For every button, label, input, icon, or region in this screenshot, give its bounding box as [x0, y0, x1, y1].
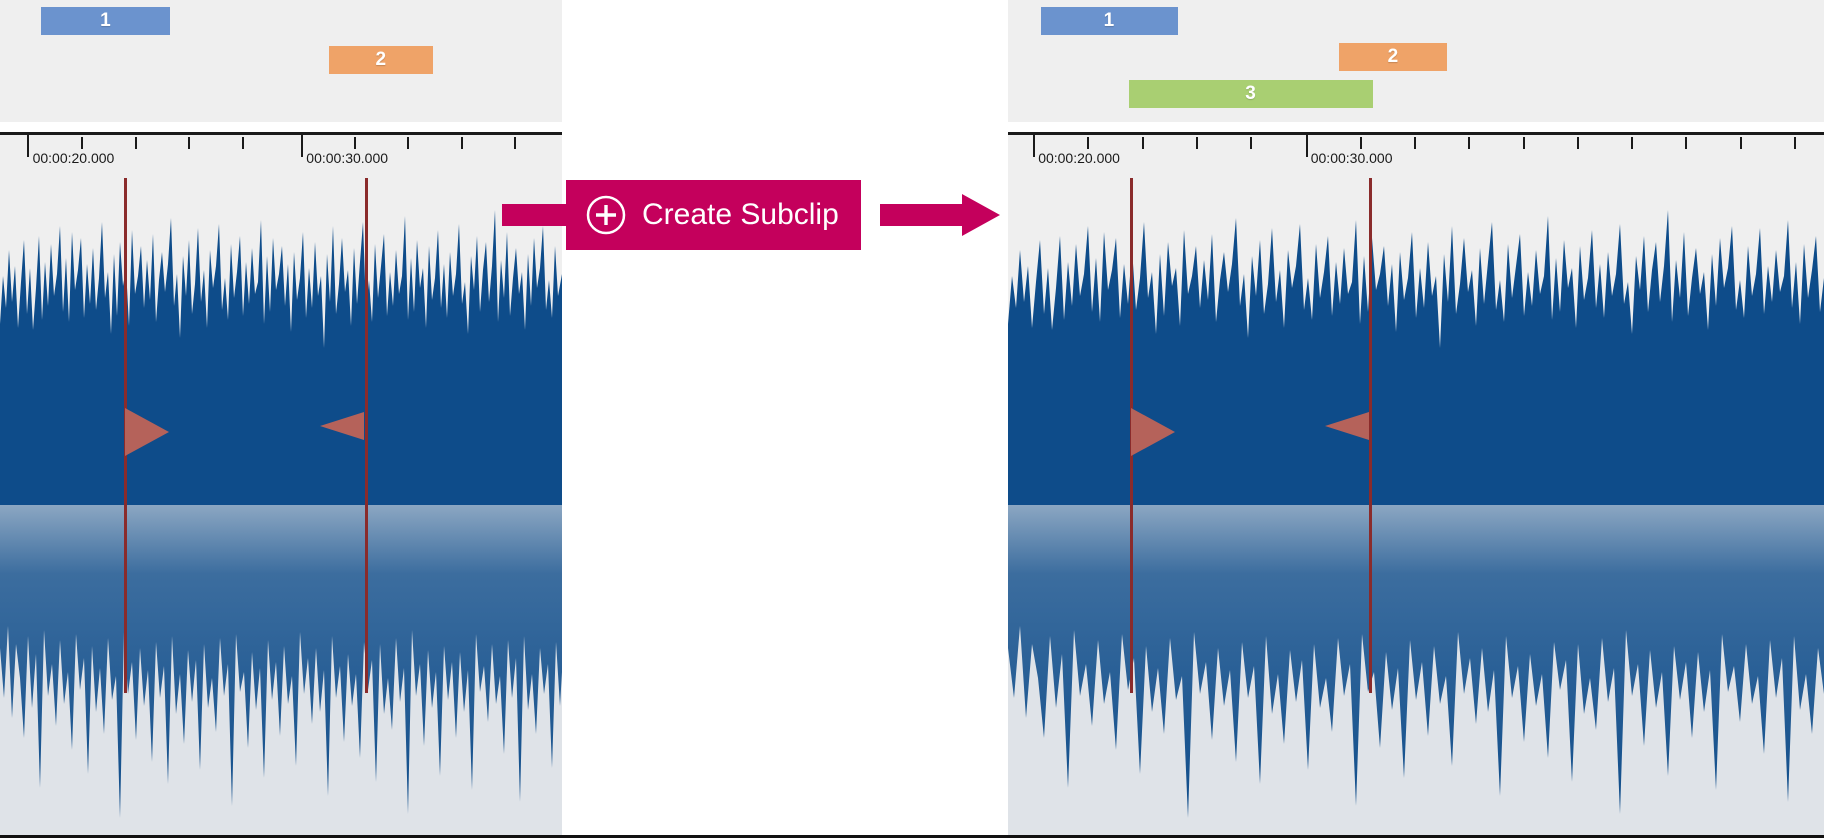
ruler-tick-minor [1631, 137, 1633, 149]
ruler-tick-major [301, 135, 303, 157]
ruler-tick-minor [514, 137, 516, 149]
ruler-tick-minor [1468, 137, 1470, 149]
ruler-label-30s: 00:00:30.000 [1311, 150, 1393, 166]
ruler-tick-minor [1142, 137, 1144, 149]
out-marker-triangle[interactable] [1325, 412, 1369, 440]
out-marker-triangle[interactable] [320, 412, 364, 440]
clip-track-after[interactable]: 1 2 3 [1008, 0, 1824, 122]
ruler-tick-major [1033, 135, 1035, 157]
after-panel: 1 2 3 00:00:20.000 00:00:30.000 [1008, 0, 1824, 838]
track-gap [1008, 122, 1824, 132]
clip-bar-3[interactable]: 3 [1129, 80, 1373, 108]
ruler-tick-minor [135, 137, 137, 149]
ruler-tick-minor [1740, 137, 1742, 149]
ruler-label-20s: 00:00:20.000 [1038, 150, 1120, 166]
ruler-tick-minor [81, 137, 83, 149]
clip-bar-1[interactable]: 1 [1041, 7, 1178, 35]
ruler-tick-minor [407, 137, 409, 149]
out-marker-line[interactable] [1369, 178, 1372, 693]
screenshot-stage: 1 2 00:00:20.000 00:00:30.000 [0, 0, 1824, 838]
track-gap [0, 122, 562, 132]
ruler-tick-major [1306, 135, 1308, 157]
in-marker-triangle[interactable] [1131, 408, 1175, 456]
ruler-tick-minor [1577, 137, 1579, 149]
clip-track-before[interactable]: 1 2 [0, 0, 562, 122]
ruler-tick-minor [188, 137, 190, 149]
action-area: Create Subclip [562, 0, 1008, 838]
ruler-tick-minor [354, 137, 356, 149]
timeline-ruler-after[interactable]: 00:00:20.000 00:00:30.000 [1008, 132, 1824, 181]
clip-bar-2[interactable]: 2 [1339, 43, 1447, 71]
ruler-tick-minor [1685, 137, 1687, 149]
ruler-tick-minor [1087, 137, 1089, 149]
create-subclip-button[interactable]: Create Subclip [566, 180, 861, 250]
ruler-tick-minor [461, 137, 463, 149]
ruler-tick-minor [1360, 137, 1362, 149]
waveform-graphic [0, 178, 562, 838]
before-panel: 1 2 00:00:20.000 00:00:30.000 [0, 0, 562, 838]
out-marker-line[interactable] [365, 178, 368, 693]
arrow-right-icon-right [880, 194, 1000, 236]
ruler-label-30s: 00:00:30.000 [306, 150, 388, 166]
ruler-tick-major [27, 135, 29, 157]
in-marker-triangle[interactable] [125, 408, 169, 456]
clip-bar-2[interactable]: 2 [329, 46, 434, 74]
waveform-before[interactable] [0, 178, 562, 838]
ruler-tick-minor [1414, 137, 1416, 149]
clip-bar-1[interactable]: 1 [41, 7, 170, 35]
timeline-ruler-before[interactable]: 00:00:20.000 00:00:30.000 [0, 132, 562, 181]
ruler-tick-minor [1196, 137, 1198, 149]
ruler-tick-minor [242, 137, 244, 149]
plus-circle-icon [584, 193, 628, 237]
create-subclip-label: Create Subclip [642, 200, 839, 230]
ruler-tick-minor [1250, 137, 1252, 149]
ruler-label-20s: 00:00:20.000 [33, 150, 115, 166]
ruler-tick-minor [1523, 137, 1525, 149]
create-subclip-row: Create Subclip [502, 180, 1072, 250]
ruler-tick-minor [1794, 137, 1796, 149]
